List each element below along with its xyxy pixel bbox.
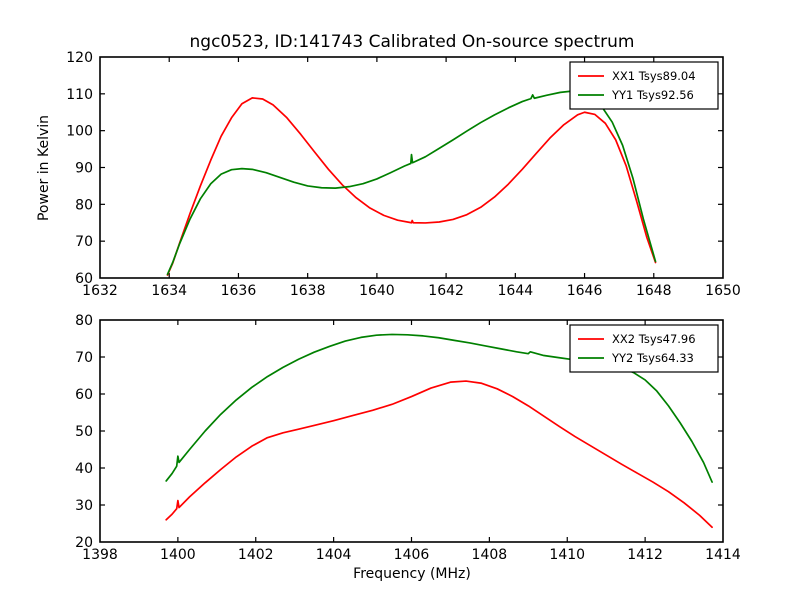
y-tick-label: 30 bbox=[75, 498, 93, 514]
x-tick-label: 1412 bbox=[627, 547, 663, 563]
y-tick-label: 50 bbox=[75, 424, 93, 440]
y-tick-label: 20 bbox=[75, 535, 93, 551]
x-tick-label: 1638 bbox=[290, 283, 326, 299]
x-tick-label: 1646 bbox=[567, 283, 603, 299]
x-tick-label: 1648 bbox=[636, 283, 672, 299]
legend-label-xx1: XX1 Tsys89.04 bbox=[612, 69, 696, 83]
x-tick-label: 1636 bbox=[221, 283, 257, 299]
top-panel-legend[interactable]: XX1 Tsys89.04 YY1 Tsys92.56 bbox=[570, 62, 718, 109]
y-tick-label: 110 bbox=[66, 87, 93, 103]
x-tick-label: 1634 bbox=[151, 283, 187, 299]
y-tick-label: 40 bbox=[75, 461, 93, 477]
legend-label-yy1: YY1 Tsys92.56 bbox=[611, 88, 694, 102]
x-tick-label: 1650 bbox=[705, 283, 741, 299]
bottom-panel-legend[interactable]: XX2 Tsys47.96 YY2 Tsys64.33 bbox=[570, 325, 718, 372]
y-tick-label: 70 bbox=[75, 234, 93, 250]
y-tick-label: 90 bbox=[75, 161, 93, 177]
x-tick-label: 1410 bbox=[549, 547, 585, 563]
matplotlib-figure: ngc0523, ID:141743 Calibrated On-source … bbox=[0, 0, 800, 600]
y-tick-label: 60 bbox=[75, 387, 93, 403]
legend-label-xx2: XX2 Tsys47.96 bbox=[612, 332, 696, 346]
y-tick-label: 70 bbox=[75, 350, 93, 366]
y-tick-label: 120 bbox=[66, 50, 93, 66]
x-tick-label: 1644 bbox=[498, 283, 534, 299]
x-tick-label: 1406 bbox=[394, 547, 430, 563]
top-panel-ylabel: Power in Kelvin bbox=[36, 115, 52, 221]
bottom-panel-xlabel: Frequency (MHz) bbox=[353, 566, 471, 582]
x-tick-label: 1414 bbox=[705, 547, 741, 563]
y-tick-label: 60 bbox=[75, 271, 93, 287]
figure-title: ngc0523, ID:141743 Calibrated On-source … bbox=[190, 32, 635, 52]
y-tick-label: 80 bbox=[75, 313, 93, 329]
y-tick-label: 80 bbox=[75, 197, 93, 213]
x-tick-label: 1408 bbox=[472, 547, 508, 563]
plot-page: ngc0523, ID:141743 Calibrated On-source … bbox=[0, 0, 800, 600]
x-tick-label: 1640 bbox=[359, 283, 395, 299]
legend-label-yy2: YY2 Tsys64.33 bbox=[611, 351, 694, 365]
x-tick-label: 1642 bbox=[428, 283, 464, 299]
y-tick-label: 100 bbox=[66, 124, 93, 140]
x-tick-label: 1404 bbox=[316, 547, 352, 563]
x-tick-label: 1400 bbox=[160, 547, 196, 563]
x-tick-label: 1402 bbox=[238, 547, 274, 563]
